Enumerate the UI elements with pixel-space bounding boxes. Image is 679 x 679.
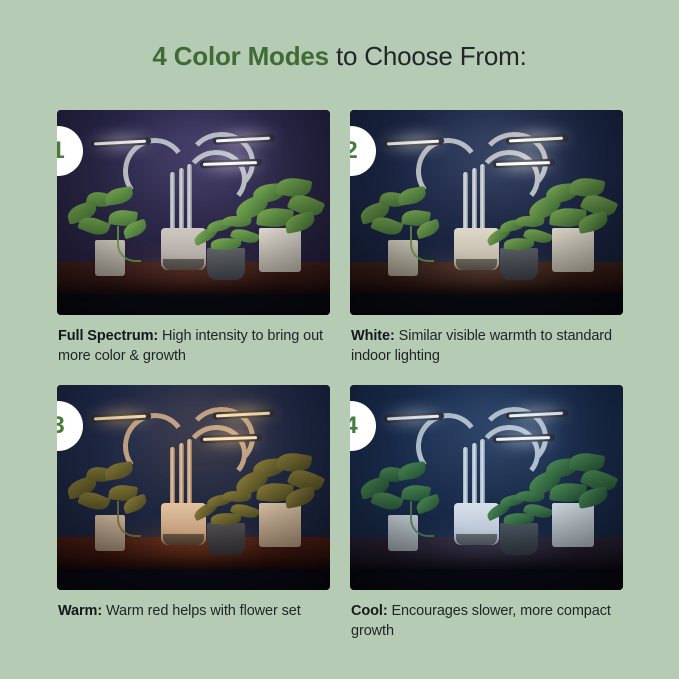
lamp-stem-1	[463, 447, 468, 507]
led-bar-1	[91, 137, 151, 147]
leaf	[211, 512, 242, 526]
product-scene-2	[350, 110, 623, 315]
mode-photo-3: 3	[57, 385, 330, 590]
led-bar-1	[91, 412, 151, 422]
plant-foliage	[235, 178, 325, 236]
mode-photo-1: 1	[57, 110, 330, 315]
led-bar-2	[506, 409, 568, 419]
led-bar-1	[384, 412, 444, 422]
plant-foliage	[358, 463, 450, 519]
mode-card-4: 4 Cool: Encourages slower, more compact …	[350, 385, 623, 590]
mode-photo-2: 2	[350, 110, 623, 315]
leaf	[397, 186, 427, 206]
product-scene-4	[350, 385, 623, 590]
mode-title-3: Warm:	[58, 603, 102, 619]
led-bar-2	[213, 134, 275, 144]
infographic-root: 4 Color Modes to Choose From:	[0, 0, 679, 679]
led-bar-3	[493, 434, 555, 443]
lamp-stem-3	[480, 164, 485, 232]
mode-caption-1: Full Spectrum: High intensity to bring o…	[58, 326, 330, 366]
plant-foliage	[528, 453, 618, 511]
lamp-stem-3	[480, 439, 485, 507]
lamp-stem-2	[472, 443, 477, 507]
plant-foliage	[65, 463, 157, 519]
led-bar-3	[200, 434, 262, 443]
plant-foliage	[528, 178, 618, 236]
lamp-stem-2	[472, 168, 477, 232]
mode-card-1: 1 Full Spectrum: High intensity to bring…	[57, 110, 330, 315]
mode-title-2: White:	[351, 328, 395, 344]
leaf	[104, 186, 134, 206]
mode-caption-2: White: Similar visible warmth to standar…	[351, 326, 623, 366]
page-title-highlight: 4 Color Modes	[152, 41, 329, 71]
lamp-stem-1	[170, 172, 175, 232]
mode-photo-4: 4	[350, 385, 623, 590]
mode-grid: 1 Full Spectrum: High intensity to bring…	[57, 110, 623, 630]
plant-foliage	[65, 188, 157, 244]
mode-description-4: Encourages slower, more compact growth	[351, 603, 611, 639]
lamp-stem-3	[187, 439, 192, 507]
leaf	[104, 461, 134, 481]
page-title: 4 Color Modes to Choose From:	[0, 40, 679, 72]
lamp-stem-1	[463, 172, 468, 232]
leaf	[504, 512, 535, 526]
leaf	[504, 237, 535, 251]
mode-caption-4: Cool: Encourages slower, more compact gr…	[351, 601, 623, 641]
lamp-stem-1	[170, 447, 175, 507]
led-bar-3	[493, 159, 555, 168]
mode-card-2: 2 White: Similar visible warmth to stand…	[350, 110, 623, 315]
mode-card-3: 3 Warm: Warm red helps with flower set	[57, 385, 330, 590]
leaf	[211, 237, 242, 251]
mode-description-3: Warm red helps with flower set	[102, 603, 301, 619]
mode-caption-3: Warm: Warm red helps with flower set	[58, 601, 330, 621]
page-title-rest: to Choose From:	[329, 41, 527, 71]
led-bar-2	[213, 409, 275, 419]
led-bar-1	[384, 137, 444, 147]
mode-title-4: Cool:	[351, 603, 388, 619]
product-scene-3	[57, 385, 330, 590]
plant-foliage	[358, 188, 450, 244]
lamp-stem-2	[179, 443, 184, 507]
led-bar-3	[200, 159, 262, 168]
led-bar-2	[506, 134, 568, 144]
plant-foliage	[235, 453, 325, 511]
product-scene-1	[57, 110, 330, 315]
mode-title-1: Full Spectrum:	[58, 328, 158, 344]
leaf	[397, 461, 427, 481]
lamp-stem-2	[179, 168, 184, 232]
lamp-stem-3	[187, 164, 192, 232]
